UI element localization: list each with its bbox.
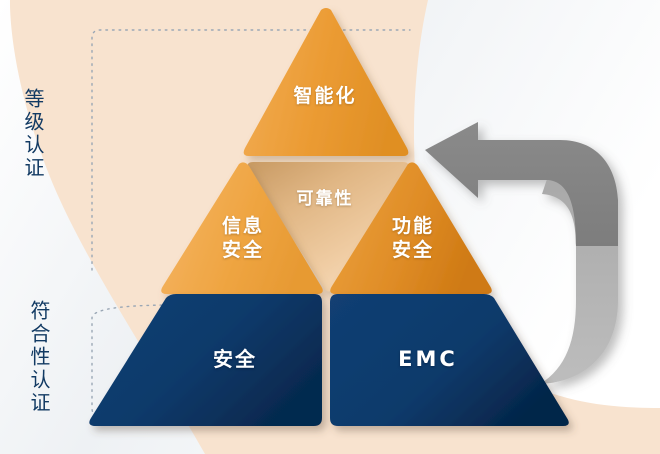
pyramid-diagram: 等级认证 符合性认证 智能化 可靠性 信息 安全 功能 安全 安全 EMC	[0, 0, 660, 454]
side-label-compliance-certification: 符合性认证	[28, 300, 49, 420]
side-label-tier-certification: 等级认证	[22, 88, 43, 208]
background-layer	[0, 0, 660, 454]
